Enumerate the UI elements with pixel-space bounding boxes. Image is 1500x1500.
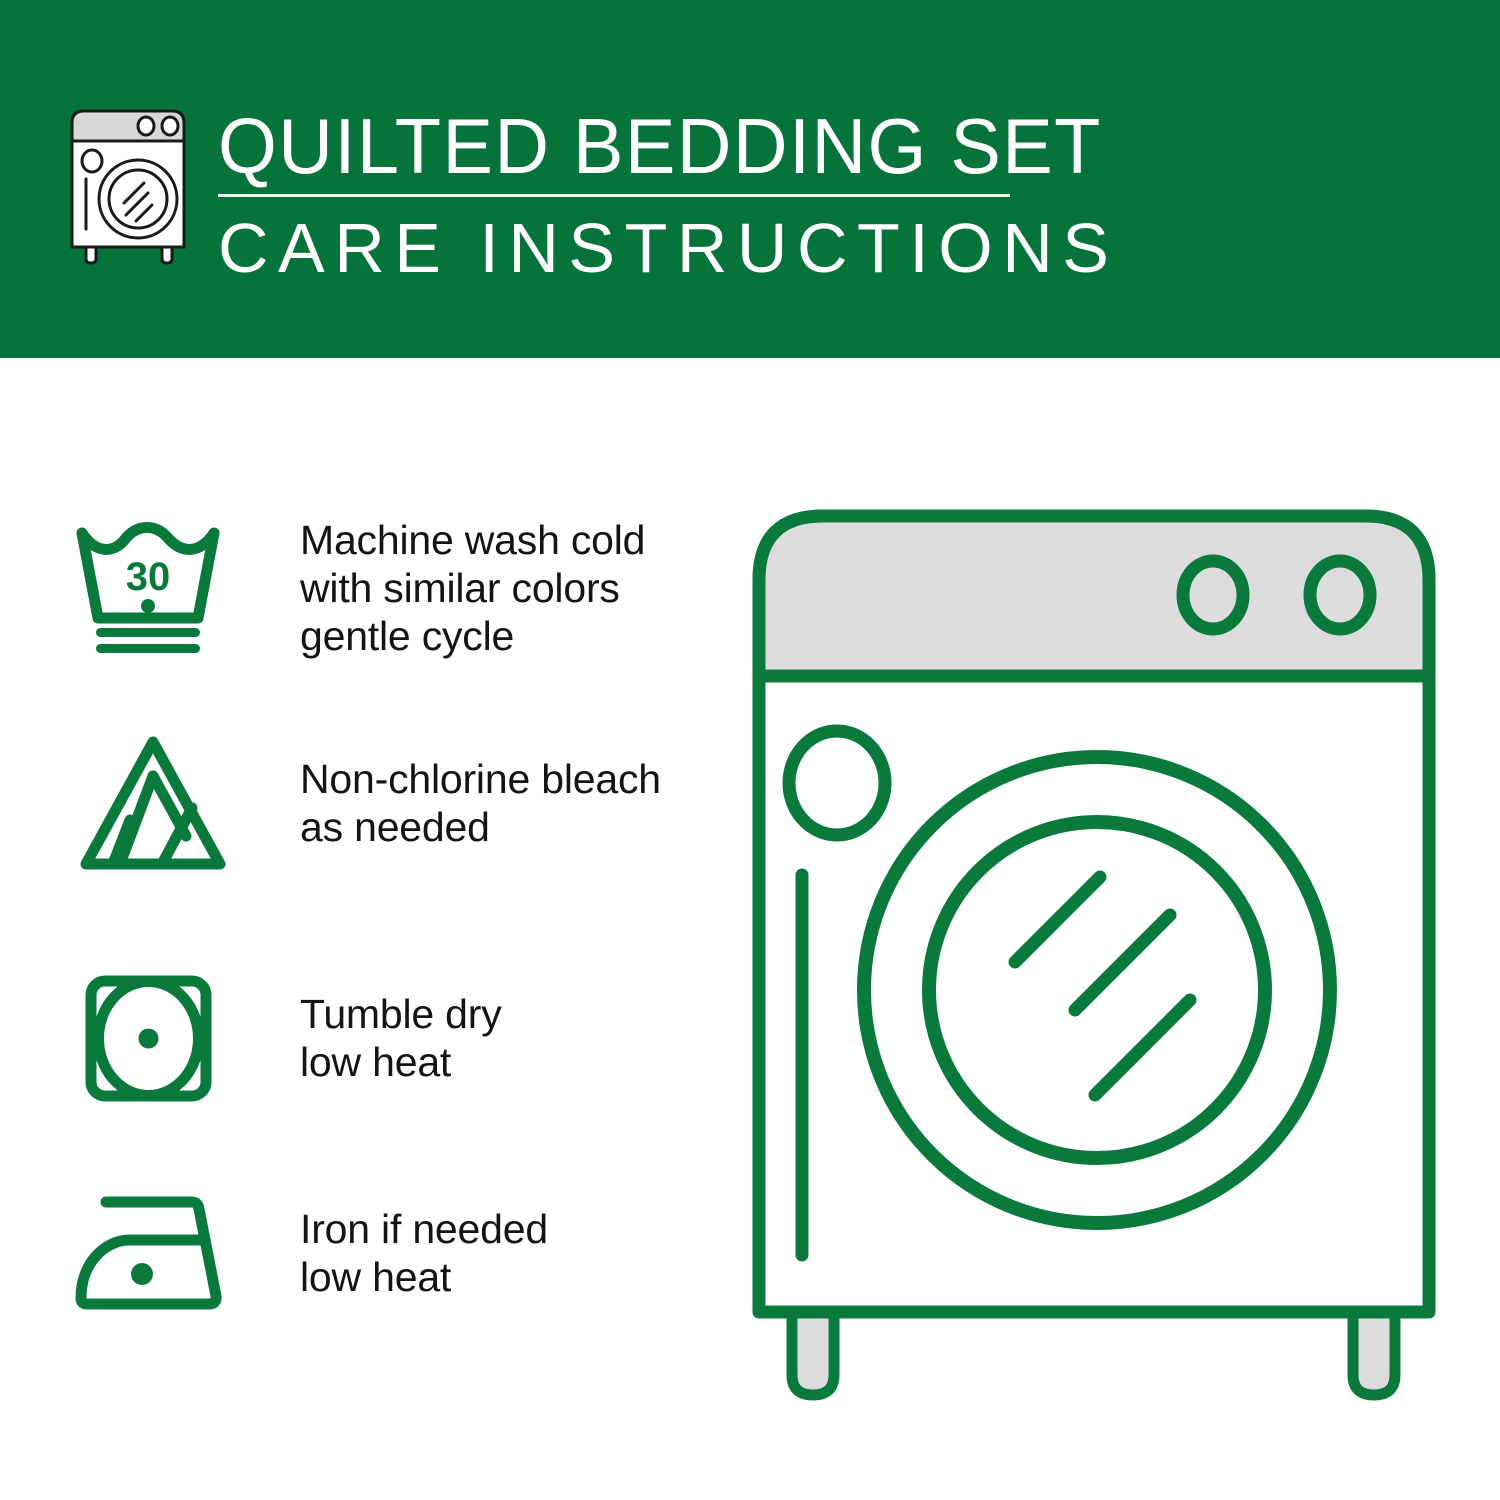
- machine-wash-30-icon: 30: [70, 518, 240, 658]
- header-text-group: QUILTED BEDDING SET CARE INSTRUCTIONS: [218, 104, 1018, 287]
- knob-right: [1310, 561, 1370, 629]
- knob-left: [1183, 561, 1243, 629]
- front-load-washing-machine-illustration: [745, 490, 1465, 1430]
- care-item-machine-wash: 30 Machine wash cold with similar colors…: [70, 516, 710, 660]
- non-chlorine-bleach-triangle-icon: [70, 728, 240, 878]
- care-item-label: Non-chlorine bleach as needed: [300, 755, 661, 851]
- care-item-label: Iron if needed low heat: [300, 1205, 548, 1301]
- tumble-dry-low-icon: [70, 968, 240, 1108]
- title-divider: [218, 194, 1010, 197]
- care-item-bleach: Non-chlorine bleach as needed: [70, 728, 710, 878]
- care-instructions-list: 30 Machine wash cold with similar colors…: [0, 358, 740, 1500]
- iron-low-heat-icon: [70, 1188, 240, 1318]
- care-item-label: Tumble dry low heat: [300, 990, 502, 1086]
- care-item-iron: Iron if needed low heat: [70, 1188, 710, 1318]
- header-banner: QUILTED BEDDING SET CARE INSTRUCTIONS: [0, 0, 1500, 358]
- care-item-tumble-dry: Tumble dry low heat: [70, 968, 710, 1108]
- page-subtitle: CARE INSTRUCTIONS: [218, 209, 1018, 287]
- detergent-indicator: [789, 731, 885, 835]
- care-item-label: Machine wash cold with similar colors ge…: [300, 516, 645, 660]
- washing-machine-icon: [64, 103, 200, 265]
- wash-temperature-value: 30: [126, 555, 171, 599]
- page-title: QUILTED BEDDING SET: [218, 104, 994, 188]
